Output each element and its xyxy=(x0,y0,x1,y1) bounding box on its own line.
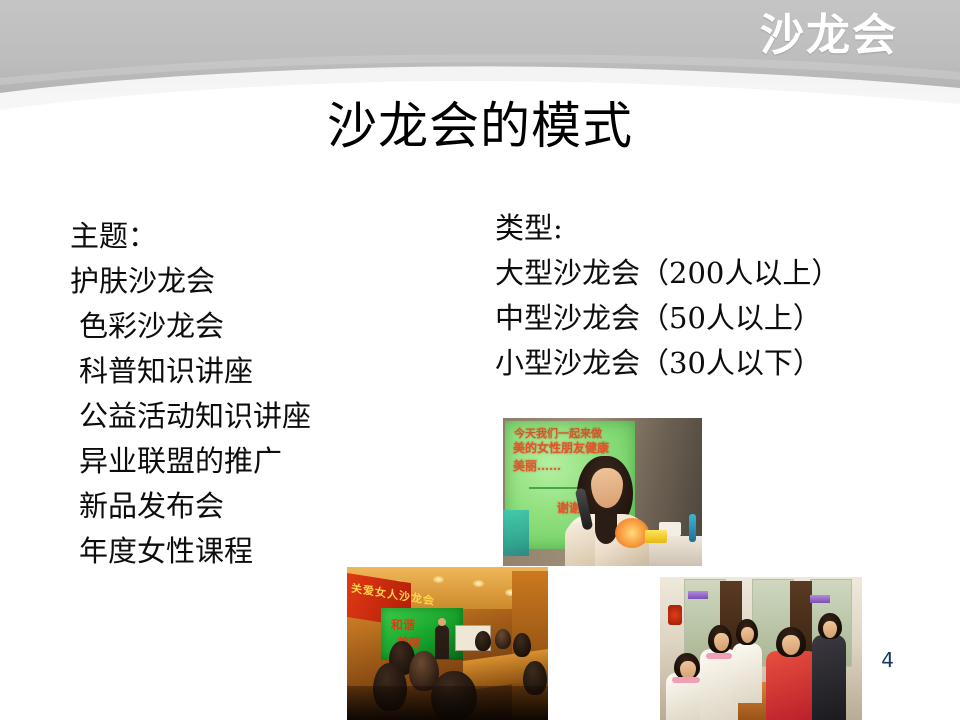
photo-hall-staff-1-scarf xyxy=(672,677,700,683)
photo-hall-staff-2-scarf xyxy=(706,653,732,659)
photo-room-presenter xyxy=(435,625,449,659)
photo-room-attendee-7 xyxy=(513,633,531,657)
topic-item-6: 年度女性课程 xyxy=(70,529,311,574)
topics-heading: 主题： xyxy=(70,214,311,259)
banner-wave-main xyxy=(0,0,960,93)
photo-speaker-yellow-box xyxy=(645,530,667,543)
page-number: 4 xyxy=(881,648,894,672)
topic-item-3: 公益活动知识讲座 xyxy=(70,394,311,439)
photo-room-ceiling-light-2 xyxy=(433,576,444,583)
topic-item-5: 新品发布会 xyxy=(70,484,311,529)
photo-room-attendee-5 xyxy=(475,631,491,651)
photo-hall-guest-dark-coat xyxy=(812,635,846,720)
topics-column: 主题： 护肤沙龙会 色彩沙龙会 科普知识讲座 公益活动知识讲座 异业联盟的推广 … xyxy=(70,214,311,574)
photo-room-ceiling-light-3 xyxy=(473,580,484,587)
types-column: 类型: 大型沙龙会（200人以上） 中型沙龙会（50人以上） 小型沙龙会（30人… xyxy=(495,206,840,386)
photo-hall-sign-1 xyxy=(688,591,708,599)
type-item-1: 中型沙龙会（50人以上） xyxy=(495,296,840,341)
page-title: 沙龙会的模式 xyxy=(0,96,960,156)
banner-wave-light xyxy=(0,0,960,110)
types-heading: 类型: xyxy=(495,206,840,251)
photo-hall-guest-red-coat xyxy=(766,651,818,720)
topic-item-2: 科普知识讲座 xyxy=(70,349,311,394)
photo-speaker-neckline xyxy=(595,514,617,544)
type-item-2: 小型沙龙会（30人以下） xyxy=(495,341,840,386)
photo-hall-staff-3-body xyxy=(732,643,762,703)
photo-speaker-corsage xyxy=(615,518,649,548)
photo-speaker-bottle xyxy=(689,514,696,542)
photo-room-foreground xyxy=(347,686,548,720)
photo-hall-sign-2 xyxy=(810,595,830,603)
topic-item-4: 异业联盟的推广 xyxy=(70,439,311,484)
photo-speaker-screen-text-2: 美的女性朋友健康 xyxy=(513,439,609,456)
photo-speaker: 今天我们一起来做 美的女性朋友健康 美丽…… 谢谢 xyxy=(503,418,702,566)
banner-title: 沙龙会 xyxy=(760,14,898,58)
topic-item-1: 色彩沙龙会 xyxy=(70,304,311,349)
photo-conference-room: 关爱女人沙龙会 和谐 美丽 xyxy=(347,567,548,720)
photo-room-screen-text-1: 和谐 xyxy=(391,616,415,633)
photo-hall-service xyxy=(660,577,862,720)
photo-speaker-teal-panel xyxy=(503,510,529,556)
photo-speaker-screen-text-3: 美丽…… xyxy=(513,457,561,474)
photo-room-attendee-6 xyxy=(495,629,511,649)
banner-wave-highlight xyxy=(0,54,960,85)
topic-item-0: 护肤沙龙会 xyxy=(70,259,311,304)
photo-hall-fire-extinguisher xyxy=(668,605,682,625)
type-item-0: 大型沙龙会（200人以上） xyxy=(495,251,840,296)
